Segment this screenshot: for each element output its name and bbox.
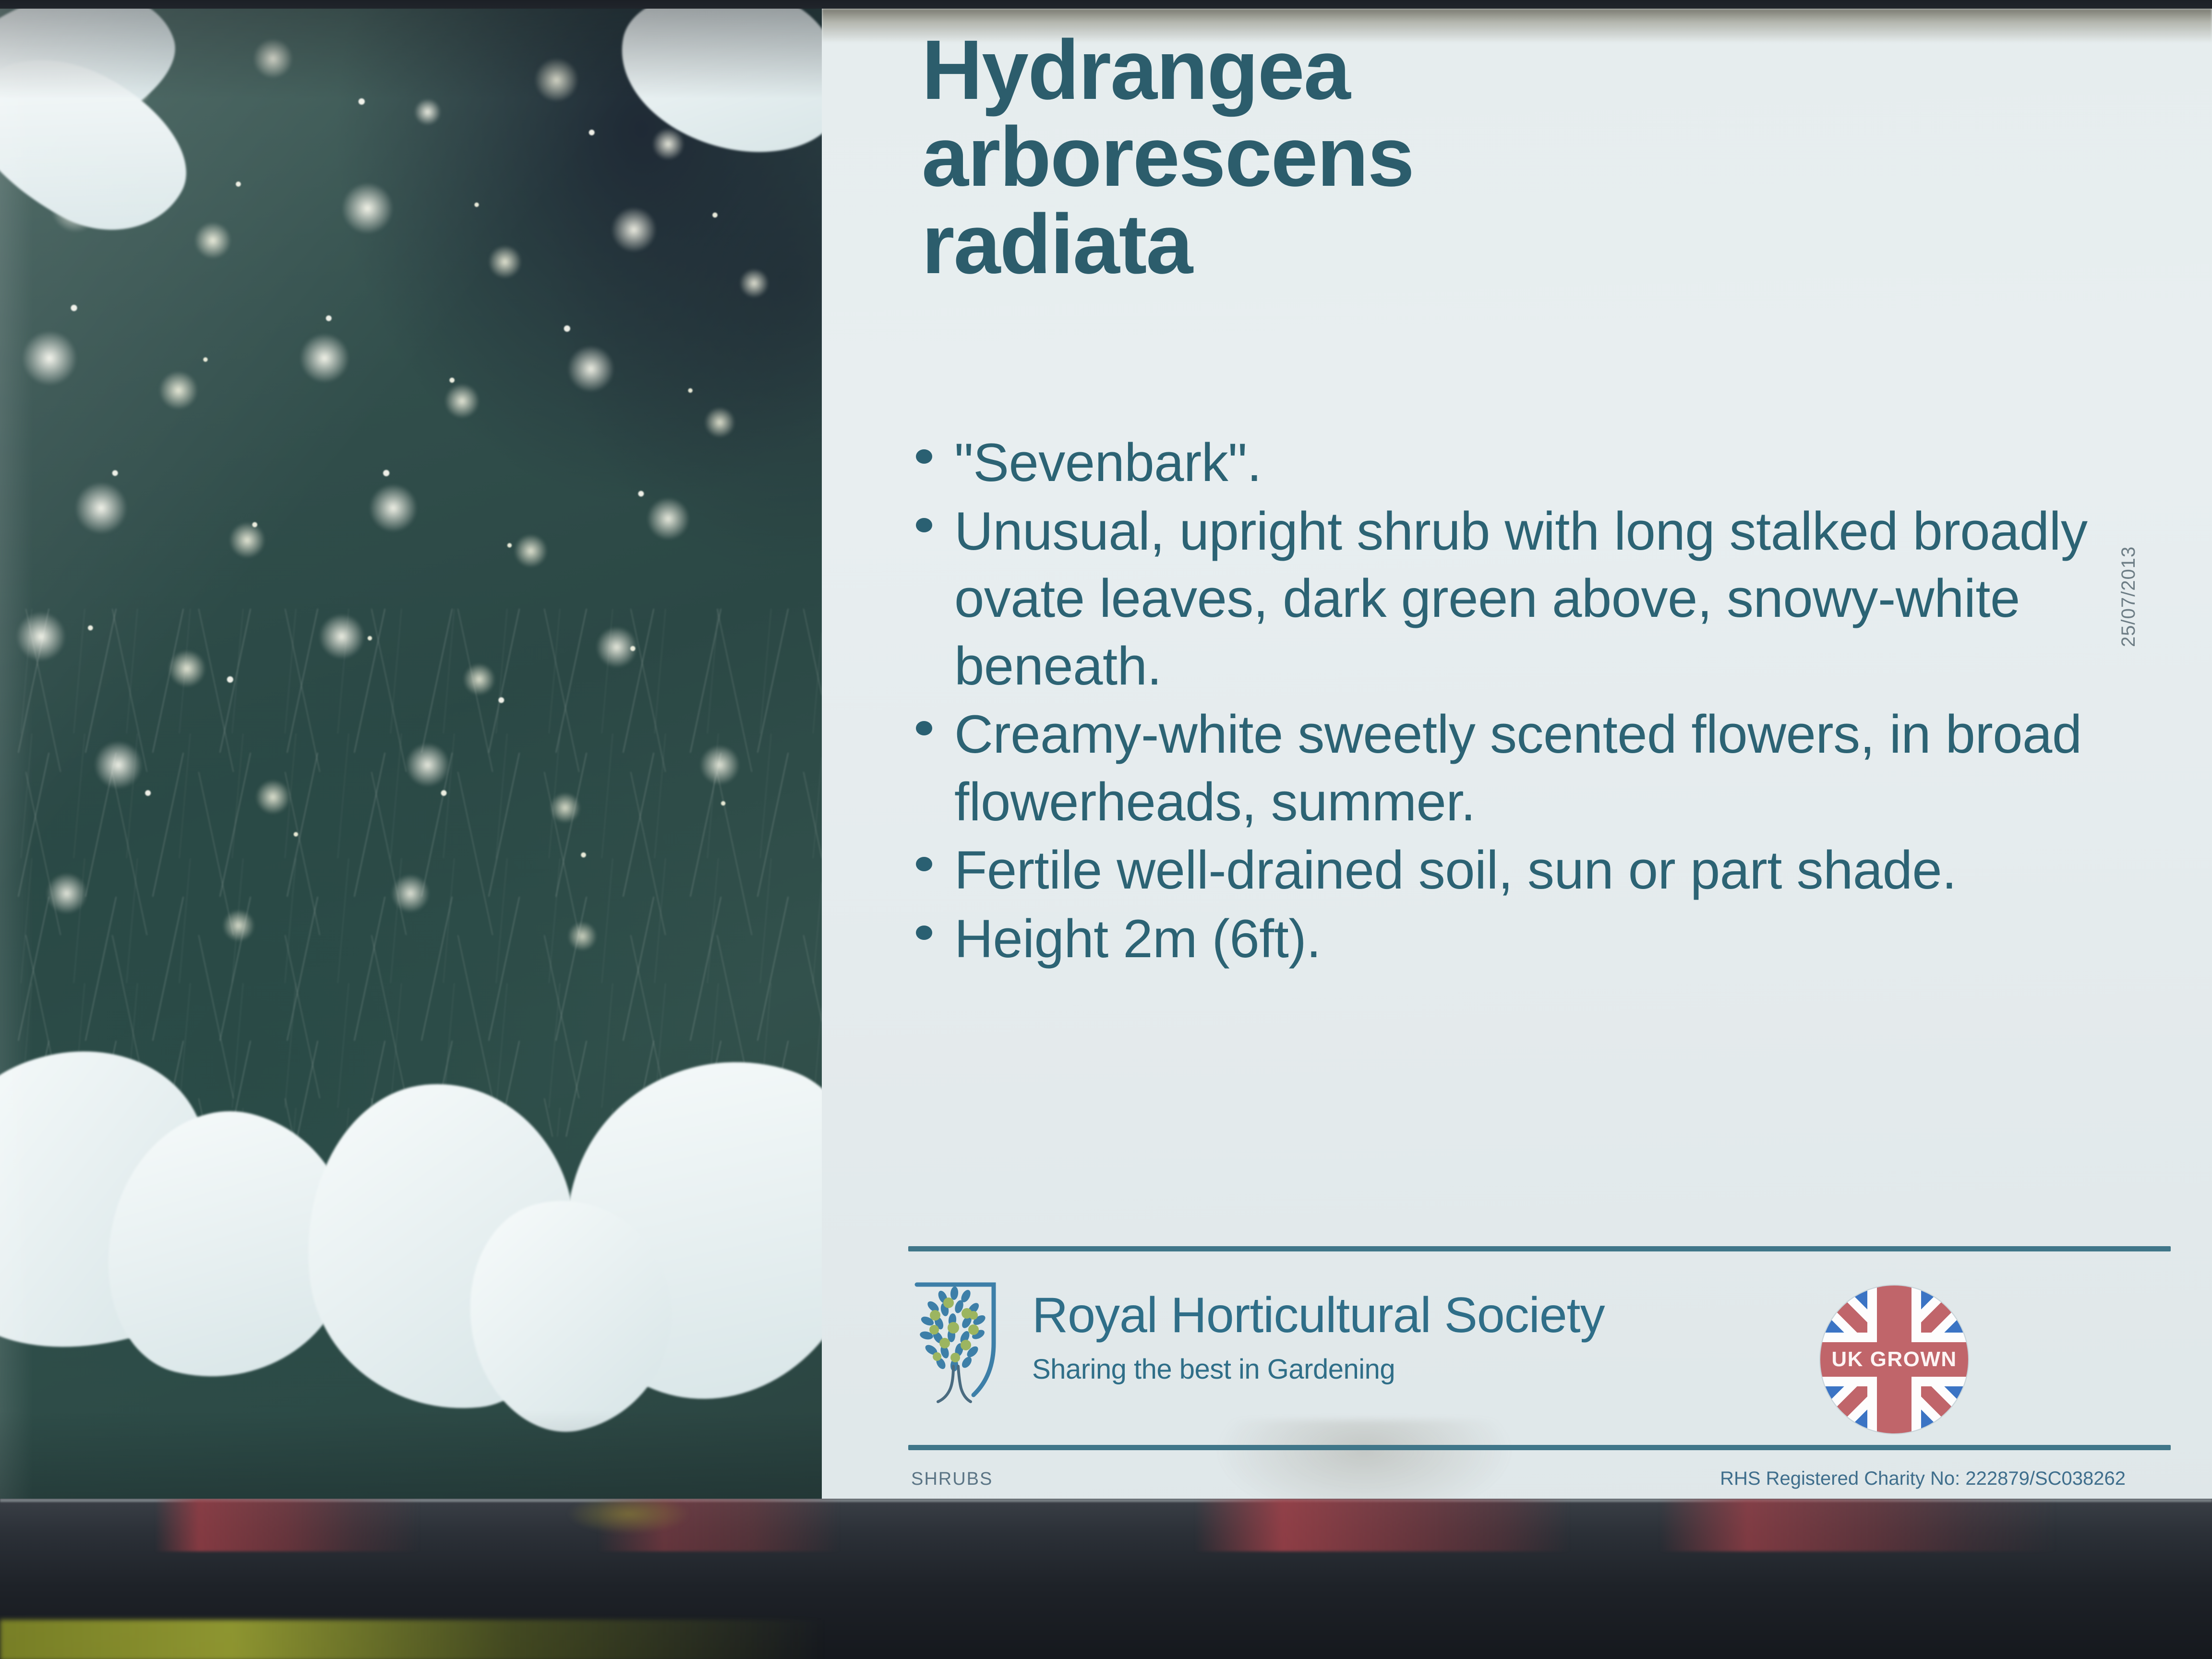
plant-description-list: "Sevenbark". Unusual, upright shrub with… [916, 429, 2130, 974]
print-date-stamp: 25/07/2013 [2118, 546, 2140, 647]
page-title: Hydrangea arborescens radiata [922, 27, 1930, 288]
rail-foliage-glow [0, 1620, 826, 1659]
title-line-1: Hydrangea [922, 27, 1930, 114]
sign-bottom-rail [0, 1499, 2212, 1659]
bullet-dot-icon [916, 449, 932, 464]
list-item: Unusual, upright shrub with long stalked… [916, 498, 2130, 700]
footer-category: SHRUBS [911, 1469, 993, 1490]
list-item-text: Height 2m (6ft). [954, 905, 2130, 973]
list-item: Creamy-white sweetly scented flowers, in… [916, 701, 2130, 836]
list-item-text: "Sevenbark". [954, 429, 2130, 497]
sign-board: Hydrangea arborescens radiata "Sevenbark… [0, 9, 2212, 1516]
list-item-text: Creamy-white sweetly scented flowers, in… [954, 701, 2130, 836]
rail-moss-patch [566, 1501, 691, 1534]
rhs-organisation-name: Royal Horticultural Society [1032, 1290, 1605, 1340]
divider-above-logo [908, 1246, 2171, 1251]
bullet-dot-icon [916, 721, 932, 735]
information-panel: Hydrangea arborescens radiata "Sevenbark… [822, 9, 2212, 1516]
list-item: Height 2m (6ft). [916, 905, 2130, 973]
title-line-2: arborescens [922, 114, 1930, 201]
title-line-3: radiata [922, 201, 1930, 288]
list-item-text: Fertile well-drained soil, sun or part s… [954, 837, 2130, 904]
rhs-tree-icon [913, 1282, 1014, 1426]
divider-above-footer [908, 1445, 2171, 1450]
bullet-dot-icon [916, 926, 932, 940]
plant-label-sign: Hydrangea arborescens radiata "Sevenbark… [0, 0, 2212, 1659]
rail-rust-streaks [0, 1499, 2212, 1551]
uk-grown-label: UK GROWN [1820, 1347, 1968, 1371]
rhs-tagline: Sharing the best in Gardening [1032, 1356, 1605, 1383]
bullet-dot-icon [916, 857, 932, 871]
list-item: "Sevenbark". [916, 429, 2130, 497]
list-item: Fertile well-drained soil, sun or part s… [916, 837, 2130, 904]
rhs-logo: Royal Horticultural Society Sharing the … [913, 1282, 1605, 1426]
bullet-dot-icon [916, 518, 932, 532]
footer-charity-number: RHS Registered Charity No: 222879/SC0382… [1720, 1468, 2126, 1490]
rhs-logo-text: Royal Horticultural Society Sharing the … [1032, 1282, 1605, 1383]
list-item-text: Unusual, upright shrub with long stalked… [954, 498, 2130, 700]
uk-grown-badge-icon: UK GROWN [1820, 1286, 1968, 1433]
hydrangea-photograph [0, 9, 822, 1516]
